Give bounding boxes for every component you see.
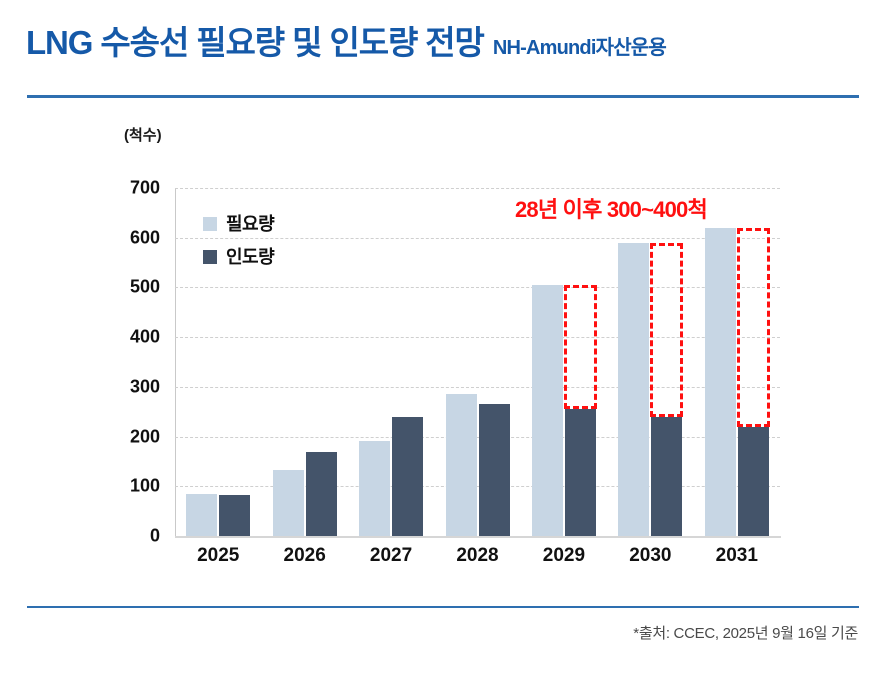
- chart-annotation: 28년 이후 300~400척: [515, 192, 707, 224]
- x-tick-label: 2026: [284, 545, 326, 567]
- legend-item-delivery: 인도량: [203, 247, 274, 267]
- bar-demand-2031: [705, 228, 736, 536]
- gridline: [175, 287, 780, 288]
- bar-delivery-2031: [738, 427, 769, 536]
- y-tick-label: 300: [102, 376, 160, 397]
- bar-demand-2028: [446, 394, 477, 536]
- x-tick-label: 2027: [370, 545, 412, 567]
- gridline: [175, 188, 780, 189]
- bar-demand-2025: [186, 494, 217, 536]
- y-tick-label: 100: [102, 476, 160, 497]
- y-tick-label: 0: [102, 526, 160, 547]
- chart-area: (척수) 7006005004003002001000 필요량 인도량 28년 …: [0, 96, 886, 606]
- bar-demand-2026: [273, 470, 304, 536]
- x-tick-label: 2031: [716, 545, 758, 567]
- gridline: [175, 387, 780, 388]
- source-note: *출처: CCEC, 2025년 9월 16일 기준: [633, 622, 858, 643]
- bar-delivery-2027: [392, 417, 423, 536]
- x-tick-label: 2029: [543, 545, 585, 567]
- gridline: [175, 337, 780, 338]
- chart-legend: 필요량 인도량: [203, 214, 274, 280]
- bar-demand-2029: [532, 285, 563, 536]
- x-tick-label: 2028: [456, 545, 498, 567]
- bar-demand-2030: [618, 243, 649, 536]
- gap-highlight-box-2029: [564, 285, 597, 409]
- y-axis-unit-label: (척수): [124, 124, 162, 145]
- legend-swatch-demand: [203, 217, 217, 231]
- y-tick-label: 400: [102, 327, 160, 348]
- gap-highlight-box-2030: [650, 243, 683, 417]
- bar-delivery-2029: [565, 409, 596, 536]
- brand-label: NH-Amundi자산운용: [493, 38, 666, 58]
- gap-highlight-box-2031: [737, 228, 770, 427]
- x-axis-tick-labels: 2025202620272028202920302031: [175, 545, 780, 575]
- x-axis-line: [175, 536, 781, 538]
- bar-demand-2027: [359, 441, 390, 536]
- title-row: LNG 수송선 필요량 및 인도량 전망 NH-Amundi자산운용: [26, 26, 666, 59]
- bar-delivery-2028: [479, 404, 510, 536]
- y-tick-label: 700: [102, 178, 160, 199]
- y-tick-label: 500: [102, 277, 160, 298]
- y-axis-tick-labels: 7006005004003002001000: [98, 188, 160, 537]
- footer-divider: [27, 606, 859, 608]
- y-tick-label: 200: [102, 426, 160, 447]
- bar-delivery-2025: [219, 495, 250, 536]
- gridline: [175, 486, 780, 487]
- y-tick-label: 600: [102, 227, 160, 248]
- gridline: [175, 437, 780, 438]
- bar-delivery-2030: [651, 417, 682, 536]
- page-title: LNG 수송선 필요량 및 인도량 전망: [26, 26, 484, 59]
- legend-label-delivery: 인도량: [226, 248, 274, 266]
- x-tick-label: 2030: [629, 545, 671, 567]
- legend-swatch-delivery: [203, 250, 217, 264]
- legend-label-demand: 필요량: [226, 215, 274, 233]
- page-header: LNG 수송선 필요량 및 인도량 전망 NH-Amundi자산운용: [0, 0, 886, 96]
- x-tick-label: 2025: [197, 545, 239, 567]
- legend-item-demand: 필요량: [203, 214, 274, 234]
- bar-delivery-2026: [306, 452, 337, 537]
